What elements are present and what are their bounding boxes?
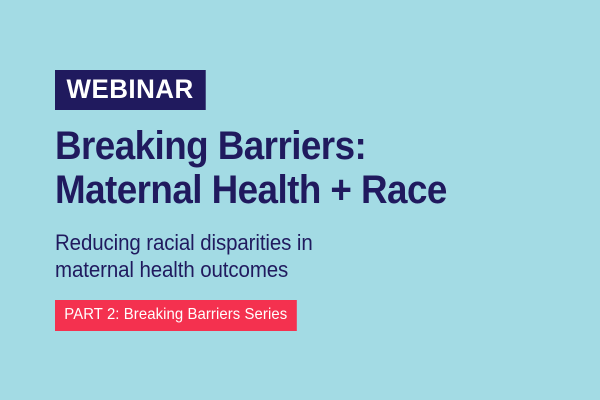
page-title: Breaking Barriers: Maternal Health + Rac…: [55, 124, 515, 212]
series-badge-container: PART 2: Breaking Barriers Series: [55, 300, 555, 331]
poster-content: WEBINAR Breaking Barriers: Maternal Heal…: [55, 70, 555, 331]
webinar-eyebrow-badge: WEBINAR: [55, 70, 205, 110]
series-part-badge: PART 2: Breaking Barriers Series: [55, 300, 297, 331]
page-title-line-1: Breaking Barriers:: [55, 124, 515, 168]
page-title-line-2: Maternal Health + Race: [55, 168, 515, 212]
page-subtitle: Reducing racial disparities in maternal …: [55, 229, 520, 283]
page-subtitle-line-1: Reducing racial disparities in: [55, 229, 520, 256]
page-subtitle-line-2: maternal health outcomes: [55, 256, 520, 283]
webinar-promo-poster: WEBINAR Breaking Barriers: Maternal Heal…: [0, 0, 600, 400]
